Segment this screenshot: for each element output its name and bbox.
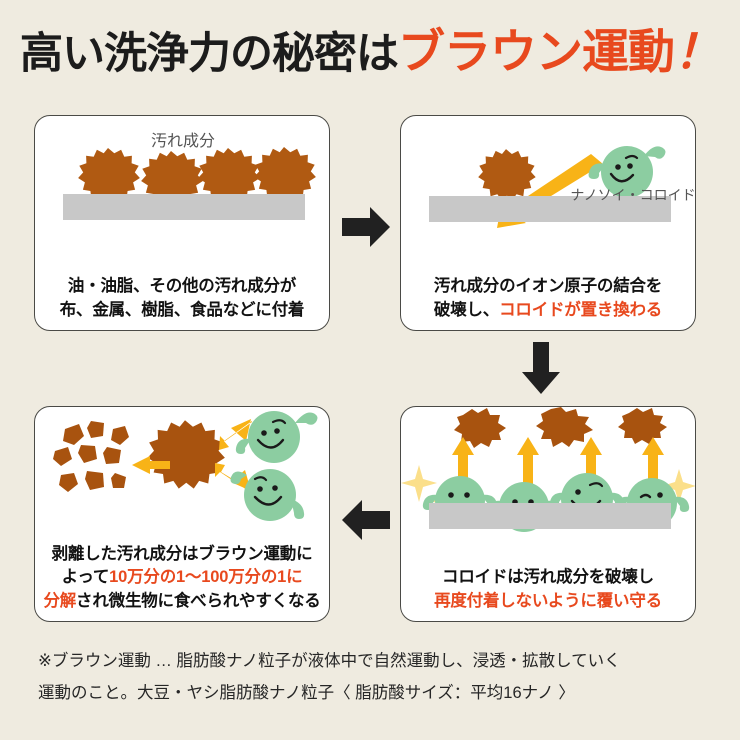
panel1-illustration: 汚れ成分 (35, 116, 329, 244)
panel4-caption: 剥離した汚れ成分はブラウン運動に よって10万分の1〜100万分の1に 分解され… (35, 543, 329, 613)
caption-seg: され微生物に食べられやすくなる (76, 592, 321, 610)
colloid-eye-left (615, 164, 621, 170)
dirt-fragment-icon (59, 473, 78, 492)
title-red-text: ブラウン運動 (398, 25, 674, 78)
colloid-character (231, 469, 305, 521)
colloid-eye-right (272, 485, 278, 491)
caption-seg-red: 再度付着しないように覆い守る (434, 592, 662, 610)
panel3-caption: コロイドは汚れ成分を破壊し 再度付着しないように覆い守る (401, 566, 695, 613)
upward-arrow-group (452, 437, 664, 487)
dirt-fragment-group (53, 421, 129, 492)
footnote-line-2: 運動のこと。大豆・ヤシ脂肪酸ナノ粒子〈 脂肪酸サイズ：平均16ナノ 〉 (38, 677, 710, 709)
caption-seg-red: 10万分の1〜100万分の1に (109, 568, 302, 586)
dirt-fragment-icon (63, 424, 84, 445)
colloid-eye-left (257, 486, 263, 492)
panel4-illustration (35, 407, 329, 535)
title-black-text: 高い洗浄力の秘密は (20, 30, 398, 78)
caption-seg: 布、金属、樹脂、食品などに付着 (60, 301, 305, 319)
caption-seg-red: 分解 (43, 592, 76, 610)
infographic-root: 高い洗浄力の秘密はブラウン運動！ 汚れ成分 油・油脂、その他の汚れ成分が 布、金… (0, 0, 740, 740)
caption-seg: 汚れ成分のイオン原子の結合を (434, 277, 662, 295)
footnote: ※ブラウン運動 … 脂肪酸ナノ粒子が液体中で自然運動し、浸透・拡散していく 運動… (38, 645, 710, 709)
caption-seg: 破壊し、 (434, 301, 499, 319)
caption-line: 油・油脂、その他の汚れ成分が (35, 275, 329, 298)
dirt-on-surface-diagram: 汚れ成分 (35, 116, 330, 244)
panel3-illustration (401, 407, 695, 535)
colloid-eye-right (464, 492, 470, 498)
footnote-line-1: ※ブラウン運動 … 脂肪酸ナノ粒子が液体中で自然運動し、浸透・拡散していく (38, 645, 710, 677)
panel-colloid-replaces: ナノソイ・コロイド 汚れ成分のイオン原子の結合を 破壊し、コロイドが置き換わる (400, 115, 696, 331)
panel-colloid-protects: コロイドは汚れ成分を破壊し 再度付着しないように覆い守る (400, 406, 696, 622)
caption-line: よって10万分の1〜100万分の1に (35, 566, 329, 589)
caption-line: 再度付着しないように覆い守る (401, 590, 695, 613)
colloid-eye-left (448, 492, 454, 498)
dirt-fragment-icon (111, 426, 129, 445)
title-exclamation: ！ (674, 25, 720, 78)
panel1-caption: 油・油脂、その他の汚れ成分が 布、金属、樹脂、食品などに付着 (35, 275, 329, 322)
dirt-blob-icon (618, 408, 667, 444)
dirt-label: 汚れ成分 (151, 132, 215, 150)
caption-line: コロイドは汚れ成分を破壊し (401, 566, 695, 589)
dirt-star-icon (478, 149, 535, 200)
surface-bar (63, 194, 305, 220)
arrow-diag-upright-icon (219, 419, 252, 450)
dirt-fragment-icon (103, 447, 121, 464)
colloid-label: ナノソイ・コロイド (570, 187, 695, 203)
dirt-star-icon (254, 147, 316, 202)
floating-dirt-group (454, 407, 667, 448)
flow-arrow-down-icon (518, 340, 564, 396)
colloid-eye-left (261, 430, 267, 436)
dirt-fragment-icon (111, 473, 126, 488)
dirt-blob-icon (536, 407, 593, 447)
panel-dirt-attached: 汚れ成分 油・油脂、その他の汚れ成分が 布、金属、樹脂、食品などに付着 (34, 115, 330, 331)
dirt-fragment-icon (87, 421, 104, 438)
colloid-body (248, 411, 300, 463)
colloid-eye-right (274, 428, 280, 434)
caption-seg: コロイドは汚れ成分を破壊し (442, 568, 654, 586)
caption-seg: 油・油脂、その他の汚れ成分が (68, 277, 296, 295)
dirt-fragment-icon (78, 445, 97, 463)
dirt-fragment-icon (53, 447, 72, 466)
colloid-character (236, 411, 318, 463)
dirt-fragment-icon (85, 471, 104, 490)
colloid-eye-left (575, 489, 581, 495)
surface-bar (429, 503, 671, 529)
flow-arrow-right-icon (340, 205, 392, 249)
colloid-eye-right (627, 163, 633, 169)
colloid-eye-right (657, 492, 663, 498)
colloid-attacks-dirt-diagram: ナノソイ・コロイド (401, 116, 696, 244)
up-arrow-icon (517, 437, 539, 487)
caption-seg: 剥離した汚れ成分はブラウン運動に (52, 545, 313, 563)
caption-line: 汚れ成分のイオン原子の結合を (401, 275, 695, 298)
caption-seg-red: コロイドが置き換わる (499, 301, 662, 319)
colloid-arm-right (295, 412, 317, 424)
dirt-star-large-icon (148, 420, 225, 488)
caption-line: 分解され微生物に食べられやすくなる (35, 590, 329, 613)
colloid-body (244, 469, 296, 521)
caption-line: 剥離した汚れ成分はブラウン運動に (35, 543, 329, 566)
flow-arrow-left-icon (340, 498, 392, 542)
caption-seg: よって (62, 568, 110, 586)
panel2-caption: 汚れ成分のイオン原子の結合を 破壊し、コロイドが置き換わる (401, 275, 695, 322)
caption-line: 破壊し、コロイドが置き換わる (401, 299, 695, 322)
dirt-fragmentation-diagram (35, 407, 330, 529)
page-title: 高い洗浄力の秘密はブラウン運動！ (0, 26, 740, 78)
panel-brownian-breakdown: 剥離した汚れ成分はブラウン運動に よって10万分の1〜100万分の1に 分解され… (34, 406, 330, 622)
panel2-illustration: ナノソイ・コロイド (401, 116, 695, 244)
caption-line: 布、金属、樹脂、食品などに付着 (35, 299, 329, 322)
colloids-shield-surface-diagram (401, 407, 696, 539)
